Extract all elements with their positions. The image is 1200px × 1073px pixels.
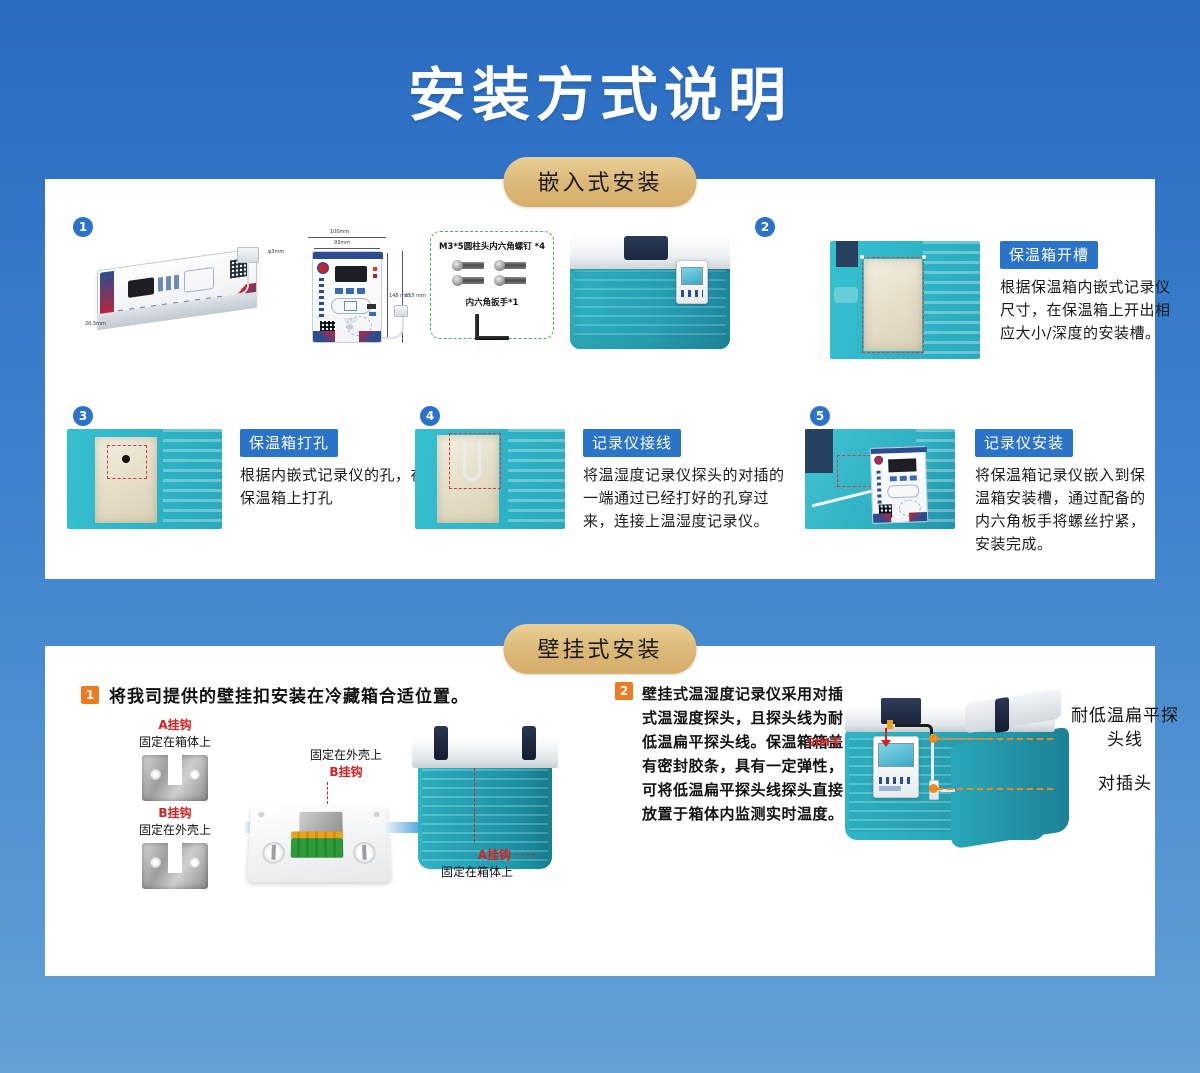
connector-text: 对插头 [1065, 772, 1185, 796]
wall-mount-plate [247, 806, 392, 882]
screw-icon [458, 262, 484, 269]
screw-icon [500, 277, 526, 284]
section-wall: 壁挂式安装 1 将我司提供的壁挂扣安装在冷藏箱合适位置。 A挂钩 固定在箱体上 … [0, 646, 1200, 976]
connector-label: 对插头 [1065, 772, 1185, 796]
step-2-embedded: 2 [755, 217, 775, 237]
hook-b-group: B挂钩 固定在外壳上 [105, 804, 245, 889]
probe-line-label: 耐低温扁平探头线 [1065, 704, 1185, 752]
step-1-embedded: 1 [73, 217, 93, 237]
step-description: 根据内嵌式记录仪的孔，在保温箱上打孔 [240, 464, 440, 510]
hook-a-group: A挂钩 固定在箱体上 [105, 716, 245, 801]
hook-bracket-icon [142, 843, 208, 889]
step-5-embedded: 5 [810, 406, 830, 426]
probe-line-text: 耐低温扁平探头线 [1065, 704, 1185, 752]
status-badge: 记录仪接线 [583, 429, 681, 457]
hook-b-sub: 固定在外壳上 [105, 821, 245, 838]
hook-b-name: B挂钩 [105, 804, 245, 821]
cooler-with-recorder-photo [570, 234, 730, 349]
status-badge: 保温箱开槽 [1000, 241, 1098, 269]
panel-embedded: 1 20.5mm 100mm [45, 179, 1155, 579]
wrench-label: 内六角扳手*1 [431, 296, 553, 308]
dimension-100mm: 100mm [330, 229, 349, 235]
step-number-badge: 5 [810, 406, 830, 426]
hook-a-sub: 固定在箱体上 [105, 733, 245, 750]
step-2-wall: 2 壁挂式温湿度记录仪采用对插式温湿度探头，且探头线为耐低温扁平探头线。保温箱箱… [615, 682, 845, 826]
screw-icon [458, 277, 484, 284]
step-number-badge: 3 [73, 406, 93, 426]
device-front-view: 100mm 93mm φ3mm 148 mm 155 mm [290, 229, 418, 359]
dimension-20-5mm: 20.5mm [85, 321, 106, 327]
step-3-text: 保温箱打孔 根据内嵌式记录仪的孔，在保温箱上打孔 [240, 429, 440, 510]
step-5-text: 记录仪安装 将保温箱记录仪嵌入到保温箱安装槽，通过配备的内六角板手将螺丝拧紧，安… [975, 429, 1153, 556]
status-badge: 保温箱打孔 [240, 429, 338, 457]
cooler-hook-sub: 固定在箱体上 [375, 863, 535, 880]
step-2-text: 保温箱开槽 根据保温箱内嵌式记录仪尺寸，在保温箱上开出相应大小/深度的安装槽。 [1000, 241, 1180, 345]
step-4-text: 记录仪接线 将温湿度记录仪探头的对插的一端通过已经打好的孔穿过来，连接上温湿度记… [583, 429, 795, 533]
recorder-installed-photo [805, 429, 955, 529]
section-embedded: 嵌入式安装 1 20.5mm [0, 179, 1200, 579]
step-number-badge: 4 [420, 406, 440, 426]
screw-icon [500, 262, 526, 269]
step-description: 将保温箱记录仪嵌入到保温箱安装槽，通过配备的内六角板手将螺丝拧紧，安装完成。 [975, 464, 1153, 556]
slot-cut-photo [830, 241, 980, 359]
step-3-embedded: 3 [73, 406, 93, 426]
hook-a-name: A挂钩 [105, 716, 245, 733]
step-1-wall: 1 将我司提供的壁挂扣安装在冷藏箱合适位置。 [81, 682, 469, 707]
hole-drill-photo [67, 429, 222, 529]
section-pill-wall: 壁挂式安装 [503, 624, 696, 674]
panel-wall: 1 将我司提供的壁挂扣安装在冷藏箱合适位置。 A挂钩 固定在箱体上 B挂钩 固定… [45, 646, 1155, 976]
cooler-hook-label: A挂钩 固定在箱体上 [375, 846, 535, 880]
dimension-d3mm: φ3mm [268, 249, 284, 255]
device-isometric-photo: 20.5mm [85, 241, 270, 341]
wiring-photo [415, 429, 565, 529]
dimension-155mm: 155 mm [405, 293, 419, 299]
plate-top-name: B挂钩 [277, 763, 415, 780]
step-description: 将温湿度记录仪探头的对插的一端通过已经打好的孔穿过来，连接上温湿度记录仪。 [583, 464, 795, 533]
dimension-148mm: 148 mm [389, 293, 403, 299]
cooler-hook-name: A挂钩 [478, 846, 511, 863]
status-badge: 记录仪安装 [975, 429, 1073, 457]
step-heading: 将我司提供的壁挂扣安装在冷藏箱合适位置。 [109, 682, 469, 707]
section-pill-embedded: 嵌入式安装 [503, 157, 696, 207]
step-number-badge: 1 [73, 217, 93, 237]
page-title: 安装方式说明 [0, 0, 1200, 132]
screws-label: M3*5圆柱头内六角螺钉 *4 [431, 240, 553, 252]
step-number-badge: 2 [615, 682, 633, 700]
hook-bracket-icon [142, 755, 208, 801]
wall-mounted-cooler-photo: SIM卡 [845, 694, 1075, 844]
step-4-embedded: 4 [420, 406, 440, 426]
parts-kit-box: M3*5圆柱头内六角螺钉 *4 内六角扳手*1 [430, 231, 554, 339]
allen-wrench-icon [475, 314, 509, 340]
sim-card-label: SIM卡 [807, 734, 841, 750]
step-number-badge: 2 [755, 217, 775, 237]
step-description: 根据保温箱内嵌式记录仪尺寸，在保温箱上开出相应大小/深度的安装槽。 [1000, 276, 1180, 345]
step-description: 壁挂式温湿度记录仪采用对插式温湿度探头，且探头线为耐低温扁平探头线。保温箱箱盖有… [642, 682, 845, 826]
dimension-93mm: 93mm [334, 240, 350, 246]
step-number-badge: 1 [81, 686, 99, 704]
plate-top-sub: 固定在外壳上 [277, 746, 415, 763]
